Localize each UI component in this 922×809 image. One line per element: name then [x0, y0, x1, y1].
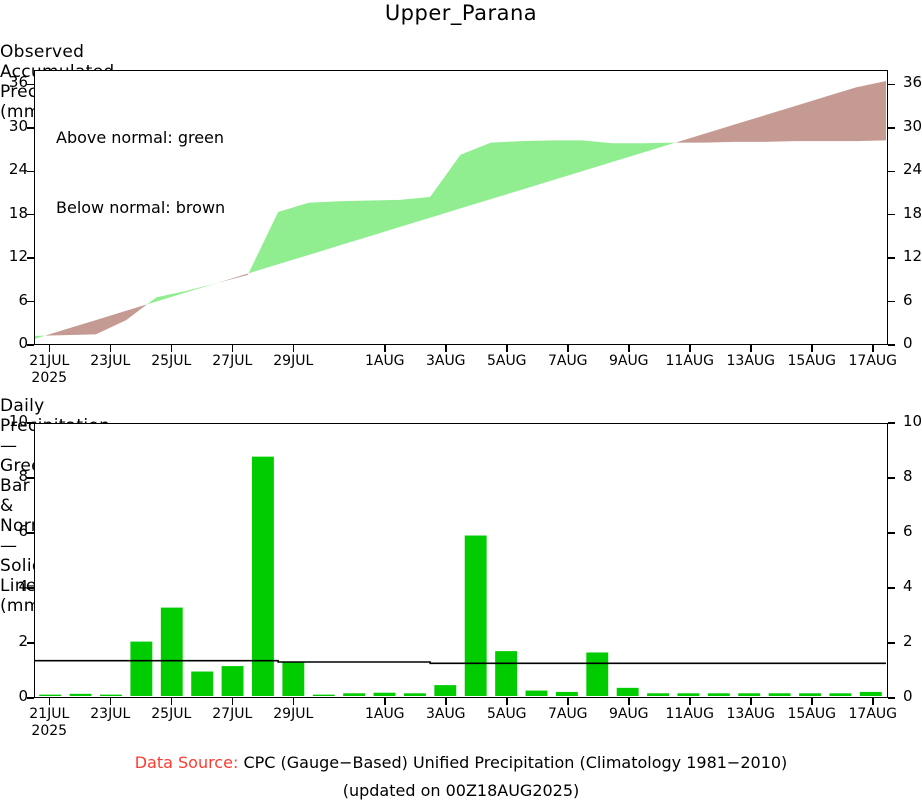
- y-axis-tick-mark: [888, 257, 895, 259]
- y-axis-tick-mark: [888, 344, 895, 346]
- y-axis-tick-mark: [27, 84, 34, 86]
- above-normal-area: [249, 140, 676, 273]
- y-axis-tick-mark: [888, 642, 895, 644]
- x-axis-tick-label: 27JUL: [212, 353, 252, 369]
- daily-precipitation-bar: [465, 536, 487, 696]
- y-axis-tick-mark: [888, 301, 895, 303]
- daily-precipitation-bar: [526, 691, 548, 696]
- daily-precipitation-bar: [404, 693, 426, 696]
- x-axis-tick-mark: [506, 345, 508, 352]
- y-axis-tick-label: 6: [0, 293, 28, 308]
- daily-precipitation-bar: [738, 693, 760, 696]
- y-axis-tick-mark: [888, 84, 895, 86]
- legend-below-normal: Below normal: brown: [56, 196, 225, 219]
- daily-precipitation-bar: [556, 692, 578, 696]
- below-normal-area: [45, 304, 147, 335]
- daily-precipitation-bar: [130, 642, 152, 696]
- y-axis-tick-mark: [888, 422, 895, 424]
- x-axis-tick-label: 23JUL: [90, 353, 130, 369]
- daily-precipitation-bar: [829, 693, 851, 696]
- y-axis-tick-label: 36: [0, 75, 28, 90]
- y-axis-tick-mark: [888, 171, 895, 173]
- daily-precipitation-bar: [495, 651, 517, 696]
- daily-precipitation-bar: [434, 685, 456, 696]
- x-axis-tick-label: 9AUG: [609, 706, 649, 722]
- x-axis-tick-mark: [689, 698, 691, 705]
- y-axis-tick-mark: [27, 477, 34, 479]
- y-axis-tick-mark: [27, 642, 34, 644]
- footer-source-line: Data Source: CPC (Gauge−Based) Unified P…: [0, 753, 922, 772]
- x-axis-tick-label: 29JUL: [273, 353, 313, 369]
- x-axis-tick-mark: [872, 698, 874, 705]
- y-axis-tick-label: 2: [0, 634, 28, 649]
- x-axis-tick-mark: [384, 698, 386, 705]
- y-axis-tick-mark: [888, 697, 895, 699]
- below-normal-area: [676, 81, 886, 143]
- above-normal-area: [35, 336, 45, 339]
- y-axis-tick-mark: [27, 257, 34, 259]
- y-axis-tick-label: 10: [903, 414, 922, 429]
- x-axis-tick-mark: [110, 698, 112, 705]
- x-axis-tick-label: 21JUL: [29, 706, 69, 722]
- x-axis-tick-mark: [567, 698, 569, 705]
- y-axis-tick-label: 30: [903, 119, 922, 134]
- x-axis-tick-mark: [750, 345, 752, 352]
- y-axis-tick-label: 0: [0, 336, 28, 351]
- y-axis-tick-mark: [27, 532, 34, 534]
- x-axis-tick-mark: [628, 345, 630, 352]
- x-axis-tick-label: 11AUG: [666, 706, 715, 722]
- page-title: Upper_Parana: [0, 1, 922, 25]
- x-axis-tick-label: 23JUL: [90, 706, 130, 722]
- x-axis-tick-label: 3AUG: [426, 706, 466, 722]
- x-axis-tick-label: 21JUL: [29, 353, 69, 369]
- x-axis-tick-label: 1AUG: [365, 353, 405, 369]
- precipitation-report: Upper_Parana Observed Accumulated Precip…: [0, 0, 922, 809]
- y-axis-tick-mark: [27, 587, 34, 589]
- x-axis-tick-mark: [49, 698, 51, 705]
- x-axis-tick-label: 11AUG: [666, 353, 715, 369]
- daily-precipitation-bar: [343, 693, 365, 696]
- daily-precipitation-bar: [70, 694, 92, 696]
- x-axis-tick-label: 5AUG: [487, 706, 527, 722]
- x-axis-tick-mark: [811, 345, 813, 352]
- x-axis-tick-mark: [628, 698, 630, 705]
- x-axis-tick-label: 13AUG: [727, 353, 776, 369]
- daily-precipitation-bar: [708, 693, 730, 696]
- x-axis-tick-label: 7AUG: [548, 353, 588, 369]
- y-axis-tick-mark: [888, 214, 895, 216]
- daily-precipitation-bar: [799, 693, 821, 696]
- x-axis-tick-mark: [293, 698, 295, 705]
- x-axis-tick-label: 15AUG: [788, 706, 837, 722]
- x-axis-tick-label: 13AUG: [727, 706, 776, 722]
- daily-precipitation-bar: [647, 693, 669, 696]
- y-axis-tick-label: 24: [0, 162, 28, 177]
- y-axis-tick-label: 6: [0, 524, 28, 539]
- x-axis-tick-label: 17AUG: [849, 706, 898, 722]
- y-axis-tick-label: 24: [903, 162, 922, 177]
- daily-bar-chart: [35, 424, 886, 696]
- y-axis-tick-label: 12: [0, 249, 28, 264]
- y-axis-tick-label: 10: [0, 414, 28, 429]
- x-axis-tick-label: 9AUG: [609, 353, 649, 369]
- daily-precipitation-bar: [39, 695, 61, 696]
- x-axis-tick-mark: [750, 698, 752, 705]
- x-axis-year-label: 2025: [31, 370, 67, 386]
- x-axis-tick-mark: [384, 345, 386, 352]
- x-axis-tick-label: 3AUG: [426, 353, 466, 369]
- y-axis-tick-label: 0: [903, 336, 913, 351]
- daily-precipitation-bar: [617, 688, 639, 696]
- x-axis-tick-mark: [445, 698, 447, 705]
- daily-precipitation-bar: [222, 666, 244, 696]
- y-axis-tick-label: 8: [0, 469, 28, 484]
- y-axis-tick-mark: [888, 532, 895, 534]
- y-axis-tick-label: 0: [903, 689, 913, 704]
- daily-precipitation-bar: [769, 693, 791, 696]
- x-axis-tick-mark: [567, 345, 569, 352]
- x-axis-tick-label: 25JUL: [151, 353, 191, 369]
- y-axis-tick-mark: [27, 127, 34, 129]
- y-axis-tick-mark: [27, 697, 34, 699]
- x-axis-tick-mark: [232, 345, 234, 352]
- y-axis-tick-label: 18: [903, 206, 922, 221]
- y-axis-tick-label: 2: [903, 634, 913, 649]
- x-axis-tick-label: 7AUG: [548, 706, 588, 722]
- x-axis-tick-mark: [689, 345, 691, 352]
- y-axis-tick-mark: [888, 587, 895, 589]
- y-axis-tick-label: 6: [903, 293, 913, 308]
- data-source-label: Data Source:: [135, 753, 239, 772]
- legend-above-normal: Above normal: green: [56, 126, 225, 149]
- y-axis-tick-label: 18: [0, 206, 28, 221]
- below-normal-area: [217, 273, 248, 283]
- daily-precipitation-bar: [586, 652, 608, 696]
- daily-precipitation-bar: [313, 695, 335, 696]
- x-axis-tick-mark: [293, 345, 295, 352]
- daily-plot-area: [34, 423, 888, 698]
- x-axis-tick-mark: [872, 345, 874, 352]
- x-axis-tick-mark: [110, 345, 112, 352]
- y-axis-tick-label: 12: [903, 249, 922, 264]
- x-axis-tick-mark: [811, 698, 813, 705]
- daily-precipitation-bar: [191, 672, 213, 696]
- daily-precipitation-bar: [678, 693, 700, 696]
- daily-precipitation-bar: [100, 695, 122, 696]
- daily-precipitation-bar: [860, 692, 882, 696]
- y-axis-tick-label: 30: [0, 119, 28, 134]
- y-axis-tick-label: 4: [0, 579, 28, 594]
- y-axis-tick-label: 6: [903, 524, 913, 539]
- x-axis-tick-label: 29JUL: [273, 706, 313, 722]
- y-axis-tick-mark: [27, 214, 34, 216]
- x-axis-tick-label: 15AUG: [788, 353, 837, 369]
- y-axis-tick-label: 36: [903, 75, 922, 90]
- y-axis-tick-mark: [888, 477, 895, 479]
- x-axis-tick-label: 17AUG: [849, 353, 898, 369]
- y-axis-tick-mark: [27, 344, 34, 346]
- accumulated-legend: Above normal: green Below normal: brown: [56, 80, 225, 266]
- data-source-text: CPC (Gauge−Based) Unified Precipitation …: [243, 753, 787, 772]
- x-axis-year-label: 2025: [31, 723, 67, 739]
- x-axis-tick-label: 1AUG: [365, 706, 405, 722]
- x-axis-tick-mark: [445, 345, 447, 352]
- x-axis-tick-label: 5AUG: [487, 353, 527, 369]
- y-axis-tick-label: 8: [903, 469, 913, 484]
- x-axis-tick-mark: [506, 698, 508, 705]
- daily-precipitation-bar: [374, 693, 396, 696]
- y-axis-tick-label: 4: [903, 579, 913, 594]
- x-axis-tick-mark: [171, 698, 173, 705]
- y-axis-tick-mark: [27, 301, 34, 303]
- y-axis-tick-mark: [888, 127, 895, 129]
- y-axis-tick-mark: [27, 422, 34, 424]
- x-axis-tick-mark: [171, 345, 173, 352]
- above-normal-area: [147, 283, 217, 305]
- footer-updated-text: (updated on 00Z18AUG2025): [0, 781, 922, 800]
- x-axis-tick-mark: [232, 698, 234, 705]
- y-axis-tick-mark: [27, 171, 34, 173]
- y-axis-tick-label: 0: [0, 689, 28, 704]
- daily-precipitation-bar: [161, 608, 183, 696]
- x-axis-tick-mark: [49, 345, 51, 352]
- x-axis-tick-label: 25JUL: [151, 706, 191, 722]
- x-axis-tick-label: 27JUL: [212, 706, 252, 722]
- daily-precipitation-bar: [282, 662, 304, 696]
